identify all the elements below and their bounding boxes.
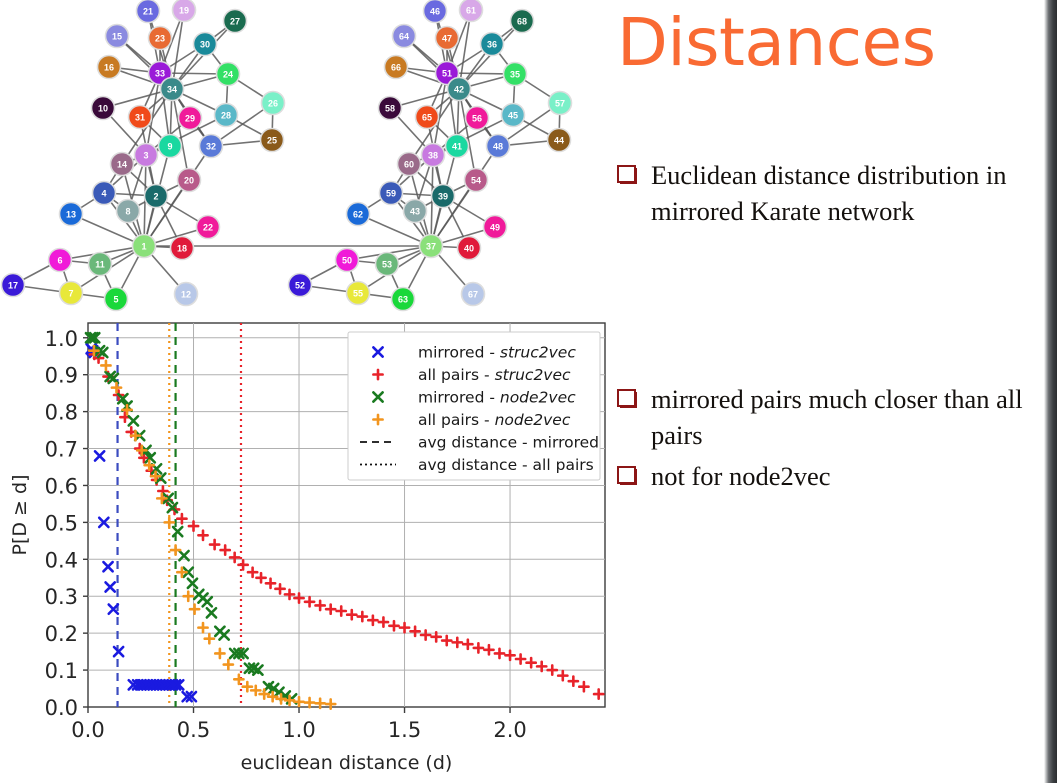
svg-text:55: 55 [353,289,363,299]
graph-node: 52 [289,274,312,297]
svg-text:32: 32 [206,142,216,152]
graph-node: 41 [446,135,469,158]
svg-text:63: 63 [398,295,408,305]
graph-node: 16 [98,56,121,79]
graph-node: 57 [549,92,572,115]
bullet-text-3: not for node2vec [651,459,831,495]
y-tick-label: 0.6 [45,474,78,498]
graph-node: 19 [173,0,196,22]
svg-text:42: 42 [454,85,464,95]
svg-text:19: 19 [179,6,189,16]
page-title: Distances [617,8,1037,77]
graph-node: 45 [502,104,525,127]
svg-text:24: 24 [223,70,233,80]
svg-text:43: 43 [410,207,420,217]
svg-text:53: 53 [382,260,392,270]
distance-distribution-chart: 0.00.10.20.30.40.50.60.70.80.91.00.00.51… [0,318,620,783]
graph-node: 13 [60,203,83,226]
graph-node: 20 [178,169,201,192]
y-tick-label: 0.5 [45,511,78,535]
karate-network-graph: 1234567891011121314151617181920212223242… [0,0,600,318]
svg-text:40: 40 [464,244,474,254]
svg-text:2: 2 [153,192,158,202]
svg-text:10: 10 [98,104,108,114]
bullet-text-1: Euclidean distance distribution in mirro… [651,158,1047,229]
graph-node: 25 [261,129,284,152]
graph-node: 55 [347,282,370,305]
chart-svg: 0.00.10.20.30.40.50.60.70.80.91.00.00.51… [0,318,620,783]
graph-node: 18 [171,237,194,260]
graph-node: 23 [149,27,172,50]
graph-node: 40 [458,237,481,260]
x-tick-label: 2.0 [493,718,526,742]
y-tick-label: 0.0 [45,696,78,720]
legend-label: avg distance - all pairs [418,456,594,474]
graph-node: 64 [393,25,416,48]
bullet-text-2: mirrored pairs much closer than all pair… [651,382,1047,453]
graph-node: 1 [133,235,156,258]
y-tick-label: 0.7 [45,438,78,462]
graph-node: 53 [376,253,399,276]
graph-node: 12 [175,283,198,306]
svg-text:29: 29 [185,114,195,124]
y-tick-label: 1.0 [45,327,78,351]
svg-text:61: 61 [466,6,476,16]
svg-text:67: 67 [468,290,478,300]
graph-node: 62 [347,203,370,226]
svg-text:5: 5 [113,295,118,305]
svg-text:31: 31 [135,113,145,123]
svg-text:56: 56 [472,114,482,124]
legend-label: mirrored - struc2vec [418,344,576,362]
svg-text:46: 46 [430,7,440,17]
svg-text:37: 37 [426,242,436,252]
graph-node: 15 [106,25,129,48]
svg-text:13: 13 [66,210,76,220]
svg-text:4: 4 [101,189,106,199]
svg-text:12: 12 [181,290,191,300]
graph-nodes: 1234567891011121314151617181920212223242… [2,0,572,311]
y-tick-label: 0.4 [45,548,78,572]
legend-label: all pairs - struc2vec [418,366,571,384]
graph-node: 46 [424,0,447,23]
svg-text:30: 30 [200,40,210,50]
graph-node: 31 [129,106,152,129]
bullet-item-2: mirrored pairs much closer than all pair… [617,382,1047,455]
graph-node: 37 [420,235,443,258]
y-tick-label: 0.2 [45,622,78,646]
graph-node: 27 [224,10,247,33]
svg-text:27: 27 [230,17,240,27]
svg-text:35: 35 [510,70,520,80]
y-axis-label: P[D ≥ d] [9,475,31,556]
svg-text:50: 50 [342,256,352,266]
legend-label: mirrored - node2vec [418,389,576,407]
slide-root: 1234567891011121314151617181920212223242… [0,0,1057,783]
checkbox-bullet-icon [617,389,637,408]
graph-node: 36 [481,33,504,56]
graph-node: 26 [262,92,285,115]
svg-text:11: 11 [95,260,105,270]
graph-node: 28 [215,104,238,127]
graph-node: 35 [504,63,527,86]
graph-node: 65 [416,106,439,129]
svg-text:57: 57 [555,99,565,109]
svg-text:51: 51 [442,69,452,79]
x-tick-label: 1.0 [282,718,315,742]
x-tick-label: 0.5 [177,718,210,742]
svg-text:54: 54 [471,176,481,186]
svg-text:15: 15 [112,32,122,42]
graph-node: 17 [2,274,25,297]
graph-node: 44 [548,129,571,152]
svg-text:18: 18 [177,244,187,254]
graph-node: 5 [105,288,128,311]
svg-text:20: 20 [184,176,194,186]
graph-node: 42 [448,78,471,101]
svg-text:25: 25 [267,136,277,146]
graph-node: 58 [379,97,402,120]
svg-text:68: 68 [517,17,527,27]
graph-node: 68 [511,10,534,33]
y-tick-label: 0.1 [45,659,78,683]
graph-node: 9 [159,135,182,158]
svg-text:6: 6 [57,256,62,266]
svg-text:66: 66 [391,63,401,73]
graph-node: 34 [161,78,184,101]
slide-right-border [1044,0,1057,783]
graph-node: 10 [92,97,115,120]
svg-text:22: 22 [203,223,213,233]
svg-text:58: 58 [385,104,395,114]
svg-text:45: 45 [508,111,518,121]
graph-node: 3 [135,144,158,167]
svg-text:14: 14 [117,160,127,170]
svg-text:7: 7 [68,289,73,299]
graph-node: 49 [484,216,507,239]
graph-node: 38 [422,144,445,167]
bullet-item-3: not for node2vec [617,459,1047,497]
x-axis-label: euclidean distance (d) [241,752,453,774]
legend-label: avg distance - mirrored [418,434,599,452]
graph-node: 21 [137,0,160,23]
graph-node: 11 [89,253,112,276]
svg-text:1: 1 [141,242,146,252]
graph-node: 54 [465,169,488,192]
svg-text:9: 9 [167,142,172,152]
graph-node: 39 [432,185,455,208]
svg-text:28: 28 [221,111,231,121]
graph-node: 32 [200,135,223,158]
svg-text:62: 62 [353,210,363,220]
svg-text:64: 64 [399,32,409,42]
y-tick-label: 0.9 [45,364,78,388]
graph-node: 6 [49,249,72,272]
graph-node: 22 [197,216,220,239]
graph-node: 48 [487,135,510,158]
svg-text:39: 39 [438,192,448,202]
graph-node: 61 [460,0,483,22]
graph-node: 7 [60,282,83,305]
svg-text:3: 3 [143,151,148,161]
svg-text:33: 33 [155,69,165,79]
svg-text:44: 44 [554,136,564,146]
svg-text:49: 49 [490,223,500,233]
svg-text:21: 21 [143,7,153,17]
svg-text:41: 41 [452,142,462,152]
graph-node: 30 [194,33,217,56]
graph-node: 50 [336,249,359,272]
graph-node: 59 [380,182,403,205]
graph-node: 66 [385,56,408,79]
svg-text:8: 8 [125,207,130,217]
legend-label: all pairs - node2vec [418,411,571,429]
y-tick-label: 0.3 [45,585,78,609]
graph-node: 14 [111,153,134,176]
svg-text:34: 34 [167,85,177,95]
svg-text:47: 47 [442,34,452,44]
graph-node: 63 [392,288,415,311]
svg-text:17: 17 [8,281,18,291]
y-tick-label: 0.8 [45,401,78,425]
graph-node: 24 [217,63,240,86]
svg-text:38: 38 [428,151,438,161]
x-tick-label: 0.0 [71,718,104,742]
graph-node: 60 [398,153,421,176]
graph-node: 47 [436,27,459,50]
svg-text:36: 36 [487,40,497,50]
svg-text:65: 65 [422,113,432,123]
graph-node: 67 [462,283,485,306]
svg-text:48: 48 [493,142,503,152]
checkbox-bullet-icon [617,165,637,184]
graph-node: 8 [117,200,140,223]
svg-text:60: 60 [404,160,414,170]
network-svg: 1234567891011121314151617181920212223242… [0,0,600,318]
bullet-item-1: Euclidean distance distribution in mirro… [617,158,1047,231]
graph-node: 4 [93,182,116,205]
svg-text:52: 52 [295,281,305,291]
graph-node: 43 [404,200,427,223]
graph-node: 56 [466,107,489,130]
graph-node: 29 [179,107,202,130]
checkbox-bullet-icon [617,466,637,485]
svg-text:16: 16 [104,63,114,73]
svg-text:59: 59 [386,189,396,199]
x-tick-label: 1.5 [388,718,421,742]
svg-text:23: 23 [155,34,165,44]
graph-node: 2 [145,185,168,208]
svg-text:26: 26 [268,99,278,109]
